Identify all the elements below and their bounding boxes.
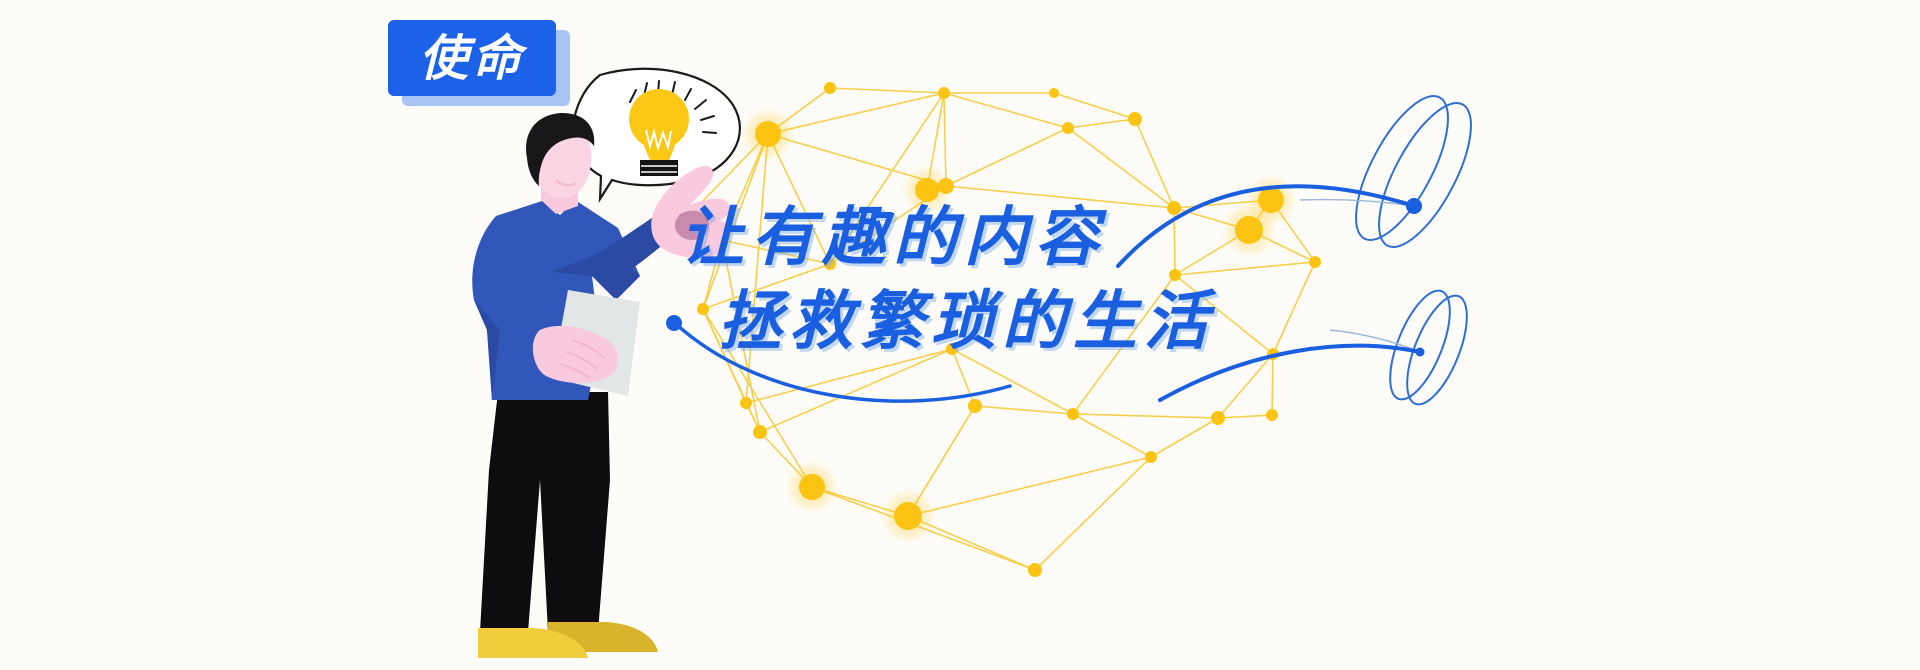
ring-lower-dot (1416, 348, 1425, 357)
paper (552, 290, 640, 396)
person-figure (472, 113, 730, 658)
raised-sleeve (600, 204, 688, 280)
badge-front[interactable]: 使命 (388, 20, 556, 96)
bulb-filament (646, 130, 671, 148)
headline-line-1: 让有趣的内容 (680, 196, 1380, 280)
ring-upper-b (1361, 90, 1489, 259)
pants (480, 392, 610, 632)
mission-badge[interactable]: 使命 (388, 12, 578, 117)
headline: 让有趣的内容 拯救繁琐的生活 (680, 196, 1380, 364)
shirt (472, 200, 640, 400)
head (531, 122, 591, 198)
neck (541, 176, 578, 214)
ring-upper-dot (1406, 198, 1422, 214)
badge-label: 使命 (419, 34, 525, 83)
shirt-body-shade (474, 300, 500, 400)
mission-banner: 使命 让有趣的内容 拯救繁琐的生活 (0, 0, 1920, 670)
headline-line-2: 拯救繁琐的生活 (680, 280, 1380, 364)
collar (545, 192, 575, 215)
shirt-arm-shade (552, 248, 640, 300)
lower-hand (533, 326, 618, 383)
bulb-neck (642, 139, 677, 164)
bulb-rays (630, 81, 716, 133)
shoe-front (478, 628, 588, 658)
face-line (556, 180, 576, 185)
lightbulb-speech-bubble (572, 69, 740, 199)
ring-lower-a (1378, 283, 1462, 407)
stray-dot (581, 515, 595, 529)
bulb-base (640, 160, 678, 176)
ring-lower-b (1395, 288, 1479, 412)
bulb-glass (629, 89, 689, 149)
shoe-back (548, 622, 658, 652)
hair (526, 113, 594, 186)
lower-hand-lines (560, 340, 604, 378)
